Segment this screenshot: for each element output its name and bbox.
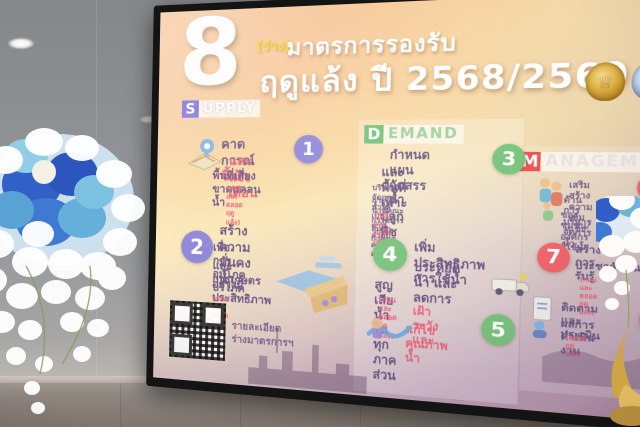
map-document-icon (185, 137, 226, 172)
slide-content: 8 (ร่าง) มาตรการรองรับ ฤดูแล้ง ปี 2568/2… (153, 0, 640, 424)
qr-code[interactable] (169, 300, 226, 361)
reservoir-dam-icon (271, 250, 350, 320)
supply-initial: S (182, 100, 199, 117)
measure-1-note: (ก่อนและตลอดฤดูแล้ง) (226, 184, 244, 226)
section-tag-supply: S UPPLY (182, 100, 261, 118)
demand-initial: D (364, 125, 384, 143)
left-flower-arrangement (0, 126, 154, 426)
title-sub: ฤดูแล้ง ปี 2568/2569 (259, 48, 631, 106)
management-label: ANAGEMENT (540, 152, 640, 173)
measure-number-1: 1 (294, 135, 324, 164)
demand-label: EMAND (383, 125, 463, 144)
water-truck-icon (489, 270, 532, 301)
royal-irrigation-emblem: ☘ (631, 61, 640, 101)
right-flower-arrangement (596, 196, 640, 427)
projection-screen-frame: 8 (ร่าง) มาตรการรองรับ ฤดูแล้ง ปี 2568/2… (146, 0, 640, 427)
section-tag-management: M ANAGEMENT (519, 152, 640, 173)
supply-label: UPPLY (199, 100, 261, 118)
projection-screen: 8 (ร่าง) มาตรการรองรับ ฤดูแล้ง ปี 2568/2… (153, 0, 640, 424)
emblem-group: ♕ ☘ (585, 61, 640, 101)
headline-number: 8 (178, 10, 239, 96)
ceiling-light (8, 38, 34, 49)
measure-4-line2: ประหยัดน้ำ และลดการ (413, 260, 461, 308)
screenshot-scene: 8 (ร่าง) มาตรการรองรับ ฤดูแล้ง ปี 2568/2… (0, 0, 640, 427)
measure-number-2: 2 (181, 230, 214, 264)
city-silhouette (248, 319, 379, 394)
garuda-emblem: ♕ (585, 62, 625, 101)
community-group-icon (535, 174, 566, 223)
section-tag-demand: D EMAND (364, 125, 463, 144)
title-draft-label: (ร่าง) (256, 34, 291, 57)
